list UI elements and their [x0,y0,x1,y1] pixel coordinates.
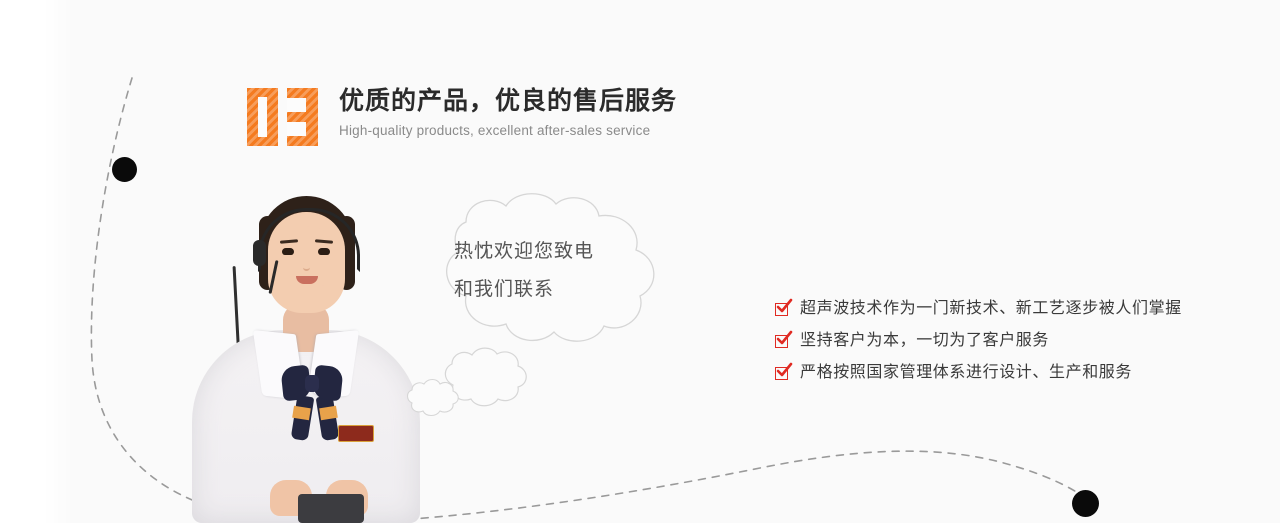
speech-bubble-line-2: 和我们联系 [454,271,654,309]
promo-banner: 优质的产品，优良的售后服务 High-quality products, exc… [0,0,1280,523]
feature-label: 严格按照国家管理体系进行设计、生产和服务 [800,362,1132,384]
speech-bubble-text: 热忱欢迎您致电 和我们联系 [454,233,654,309]
feature-list: 超声波技术作为一门新技术、新工艺逐步被人们掌握 坚持客户为本，一切为了客户服务 … [775,298,1245,384]
list-item: 超声波技术作为一门新技术、新工艺逐步被人们掌握 [775,298,1245,320]
badge-digit-zero [247,88,278,146]
agent-device [298,494,364,523]
badge-three-notch-lower [287,122,306,136]
section-number-badge [247,88,320,146]
checkbox-checked-icon [775,335,788,348]
background-edge-fade [44,0,74,523]
decorative-dot-top [112,157,137,182]
headset-earcup [253,240,266,266]
heading-text-group: 优质的产品，优良的售后服务 High-quality products, exc… [339,86,677,138]
feature-label: 超声波技术作为一门新技术、新工艺逐步被人们掌握 [800,298,1182,320]
list-item: 坚持客户为本，一切为了客户服务 [775,330,1245,352]
badge-three-notch-upper [287,98,306,112]
feature-label: 坚持客户为本，一切为了客户服务 [800,330,1049,352]
bowtie-knot [305,375,319,392]
agent-bowtie [282,366,342,400]
badge-digit-three [287,88,318,146]
list-item: 严格按照国家管理体系进行设计、生产和服务 [775,362,1245,384]
checkbox-checked-icon [775,367,788,380]
decorative-dot-bottom [1072,490,1099,517]
speech-bubble-line-1: 热忱欢迎您致电 [454,233,654,271]
page-title: 优质的产品，优良的售后服务 [339,86,677,116]
bowtie-accent-left [292,406,311,421]
checkbox-checked-icon [775,303,788,316]
page-subtitle: High-quality products, excellent after-s… [339,123,677,138]
badge-zero-slot [258,97,267,137]
agent-name-badge [338,425,374,442]
section-heading: 优质的产品，优良的售后服务 High-quality products, exc… [247,86,677,146]
customer-service-agent-photo [186,182,426,523]
